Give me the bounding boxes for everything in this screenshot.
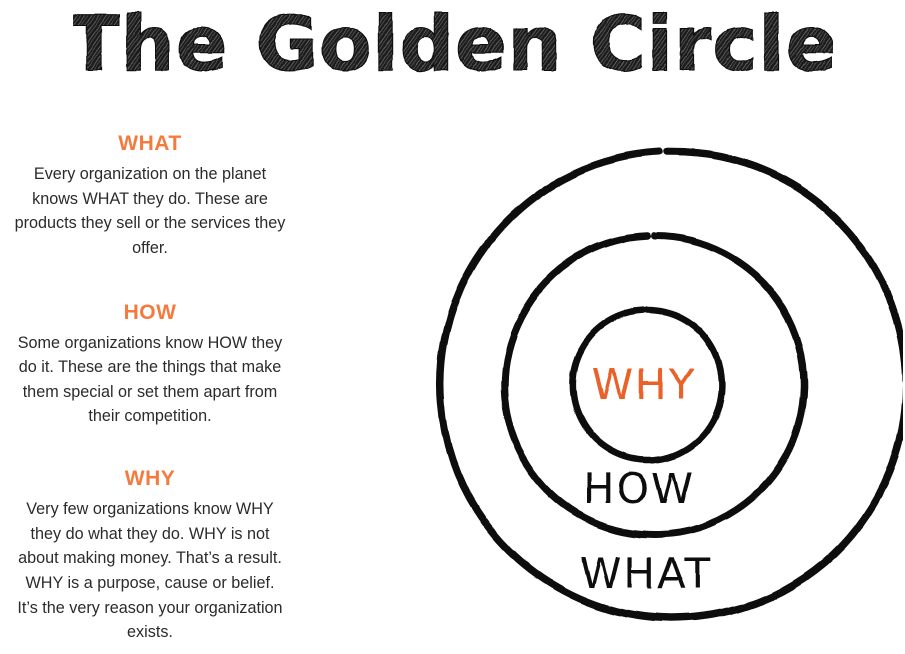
label-why: WHY — [592, 360, 697, 409]
section-why-body: Very few organizations know WHY they do … — [14, 497, 286, 645]
label-what: WHAT — [580, 549, 712, 598]
section-how: HOW Some organizations know HOW they do … — [14, 301, 286, 430]
page-root: The Golden Circle WHAT Every organizatio… — [0, 0, 905, 654]
section-why-heading: WHY — [14, 467, 286, 491]
section-what: WHAT Every organization on the planet kn… — [14, 132, 286, 261]
title-sketch-text: The Golden Circle — [73, 0, 833, 92]
section-why: WHY Very few organizations know WHY they… — [14, 467, 286, 645]
section-what-body: Every organization on the planet knows W… — [14, 162, 286, 260]
section-what-heading: WHAT — [14, 132, 286, 156]
golden-circle-diagram: WHY HOW WHAT — [398, 128, 903, 648]
page-title: The Golden Circle — [0, 0, 905, 96]
concentric-circles-svg: WHY HOW WHAT — [398, 128, 903, 648]
title-text: The Golden Circle — [73, 0, 833, 88]
section-how-heading: HOW — [14, 301, 286, 325]
section-how-body: Some organizations know HOW they do it. … — [14, 331, 286, 429]
label-how: HOW — [583, 464, 695, 513]
explanation-column: WHAT Every organization on the planet kn… — [14, 132, 286, 645]
